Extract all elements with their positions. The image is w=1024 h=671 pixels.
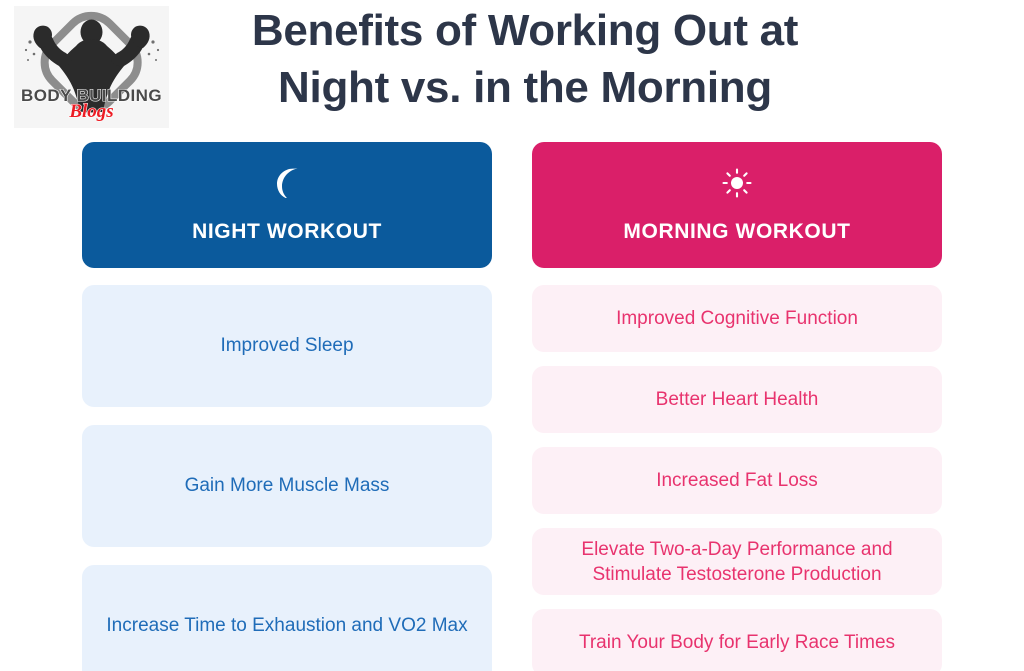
page-title-text: Benefits of Working Out at Night vs. in … [185,0,865,116]
benefit-label: Train Your Body for Early Race Times [579,630,895,655]
morning-workout-header-card[interactable]: MORNING WORKOUT [532,142,942,268]
benefit-label: Increase Time to Exhaustion and VO2 Max [106,613,467,639]
night-workout-heading: NIGHT WORKOUT [192,220,382,244]
benefit-card[interactable]: Improved Sleep [82,285,492,407]
benefit-card[interactable]: Increase Time to Exhaustion and VO2 Max [82,565,492,671]
benefit-label: Gain More Muscle Mass [185,473,390,499]
page-title-line-1: Benefits of Working Out at [185,2,865,59]
benefit-card[interactable]: Elevate Two-a-Day Performance and Stimul… [532,528,942,595]
infographic-page: BODY BUILDING Blogs Benefits of Working … [0,0,1024,671]
bodybuilder-silhouette-icon: BODY BUILDING Blogs [14,6,169,128]
benefit-card[interactable]: Train Your Body for Early Race Times [532,609,942,671]
night-workout-header-card[interactable]: NIGHT WORKOUT [82,142,492,268]
sun-icon [722,166,752,200]
benefit-card[interactable]: Gain More Muscle Mass [82,425,492,547]
column-morning-workout: MORNING WORKOUT Improved Cognitive Funct… [532,142,942,671]
night-benefit-list: Improved Sleep Gain More Muscle Mass Inc… [82,285,492,671]
page-title: Benefits of Working Out at Night vs. in … [185,0,865,116]
benefit-label: Improved Cognitive Function [616,306,858,331]
benefit-card[interactable]: Improved Cognitive Function [532,285,942,352]
morning-benefit-list: Improved Cognitive Function Better Heart… [532,285,942,671]
logo-wordmark-bottom: Blogs [68,101,113,122]
benefit-label: Better Heart Health [656,387,819,412]
site-logo[interactable]: BODY BUILDING Blogs [14,6,169,128]
page-header: BODY BUILDING Blogs Benefits of Working … [0,0,1024,132]
benefit-label: Improved Sleep [220,333,353,359]
morning-workout-heading: MORNING WORKOUT [623,220,850,244]
page-title-line-2: Night vs. in the Morning [185,59,865,116]
benefit-label: Increased Fat Loss [656,468,818,493]
benefit-card[interactable]: Increased Fat Loss [532,447,942,514]
crescent-moon-icon [274,166,300,200]
benefit-label: Elevate Two-a-Day Performance and Stimul… [550,537,924,587]
comparison-columns: NIGHT WORKOUT Improved Sleep Gain More M… [0,142,1024,671]
benefit-card[interactable]: Better Heart Health [532,366,942,433]
column-night-workout: NIGHT WORKOUT Improved Sleep Gain More M… [82,142,492,671]
